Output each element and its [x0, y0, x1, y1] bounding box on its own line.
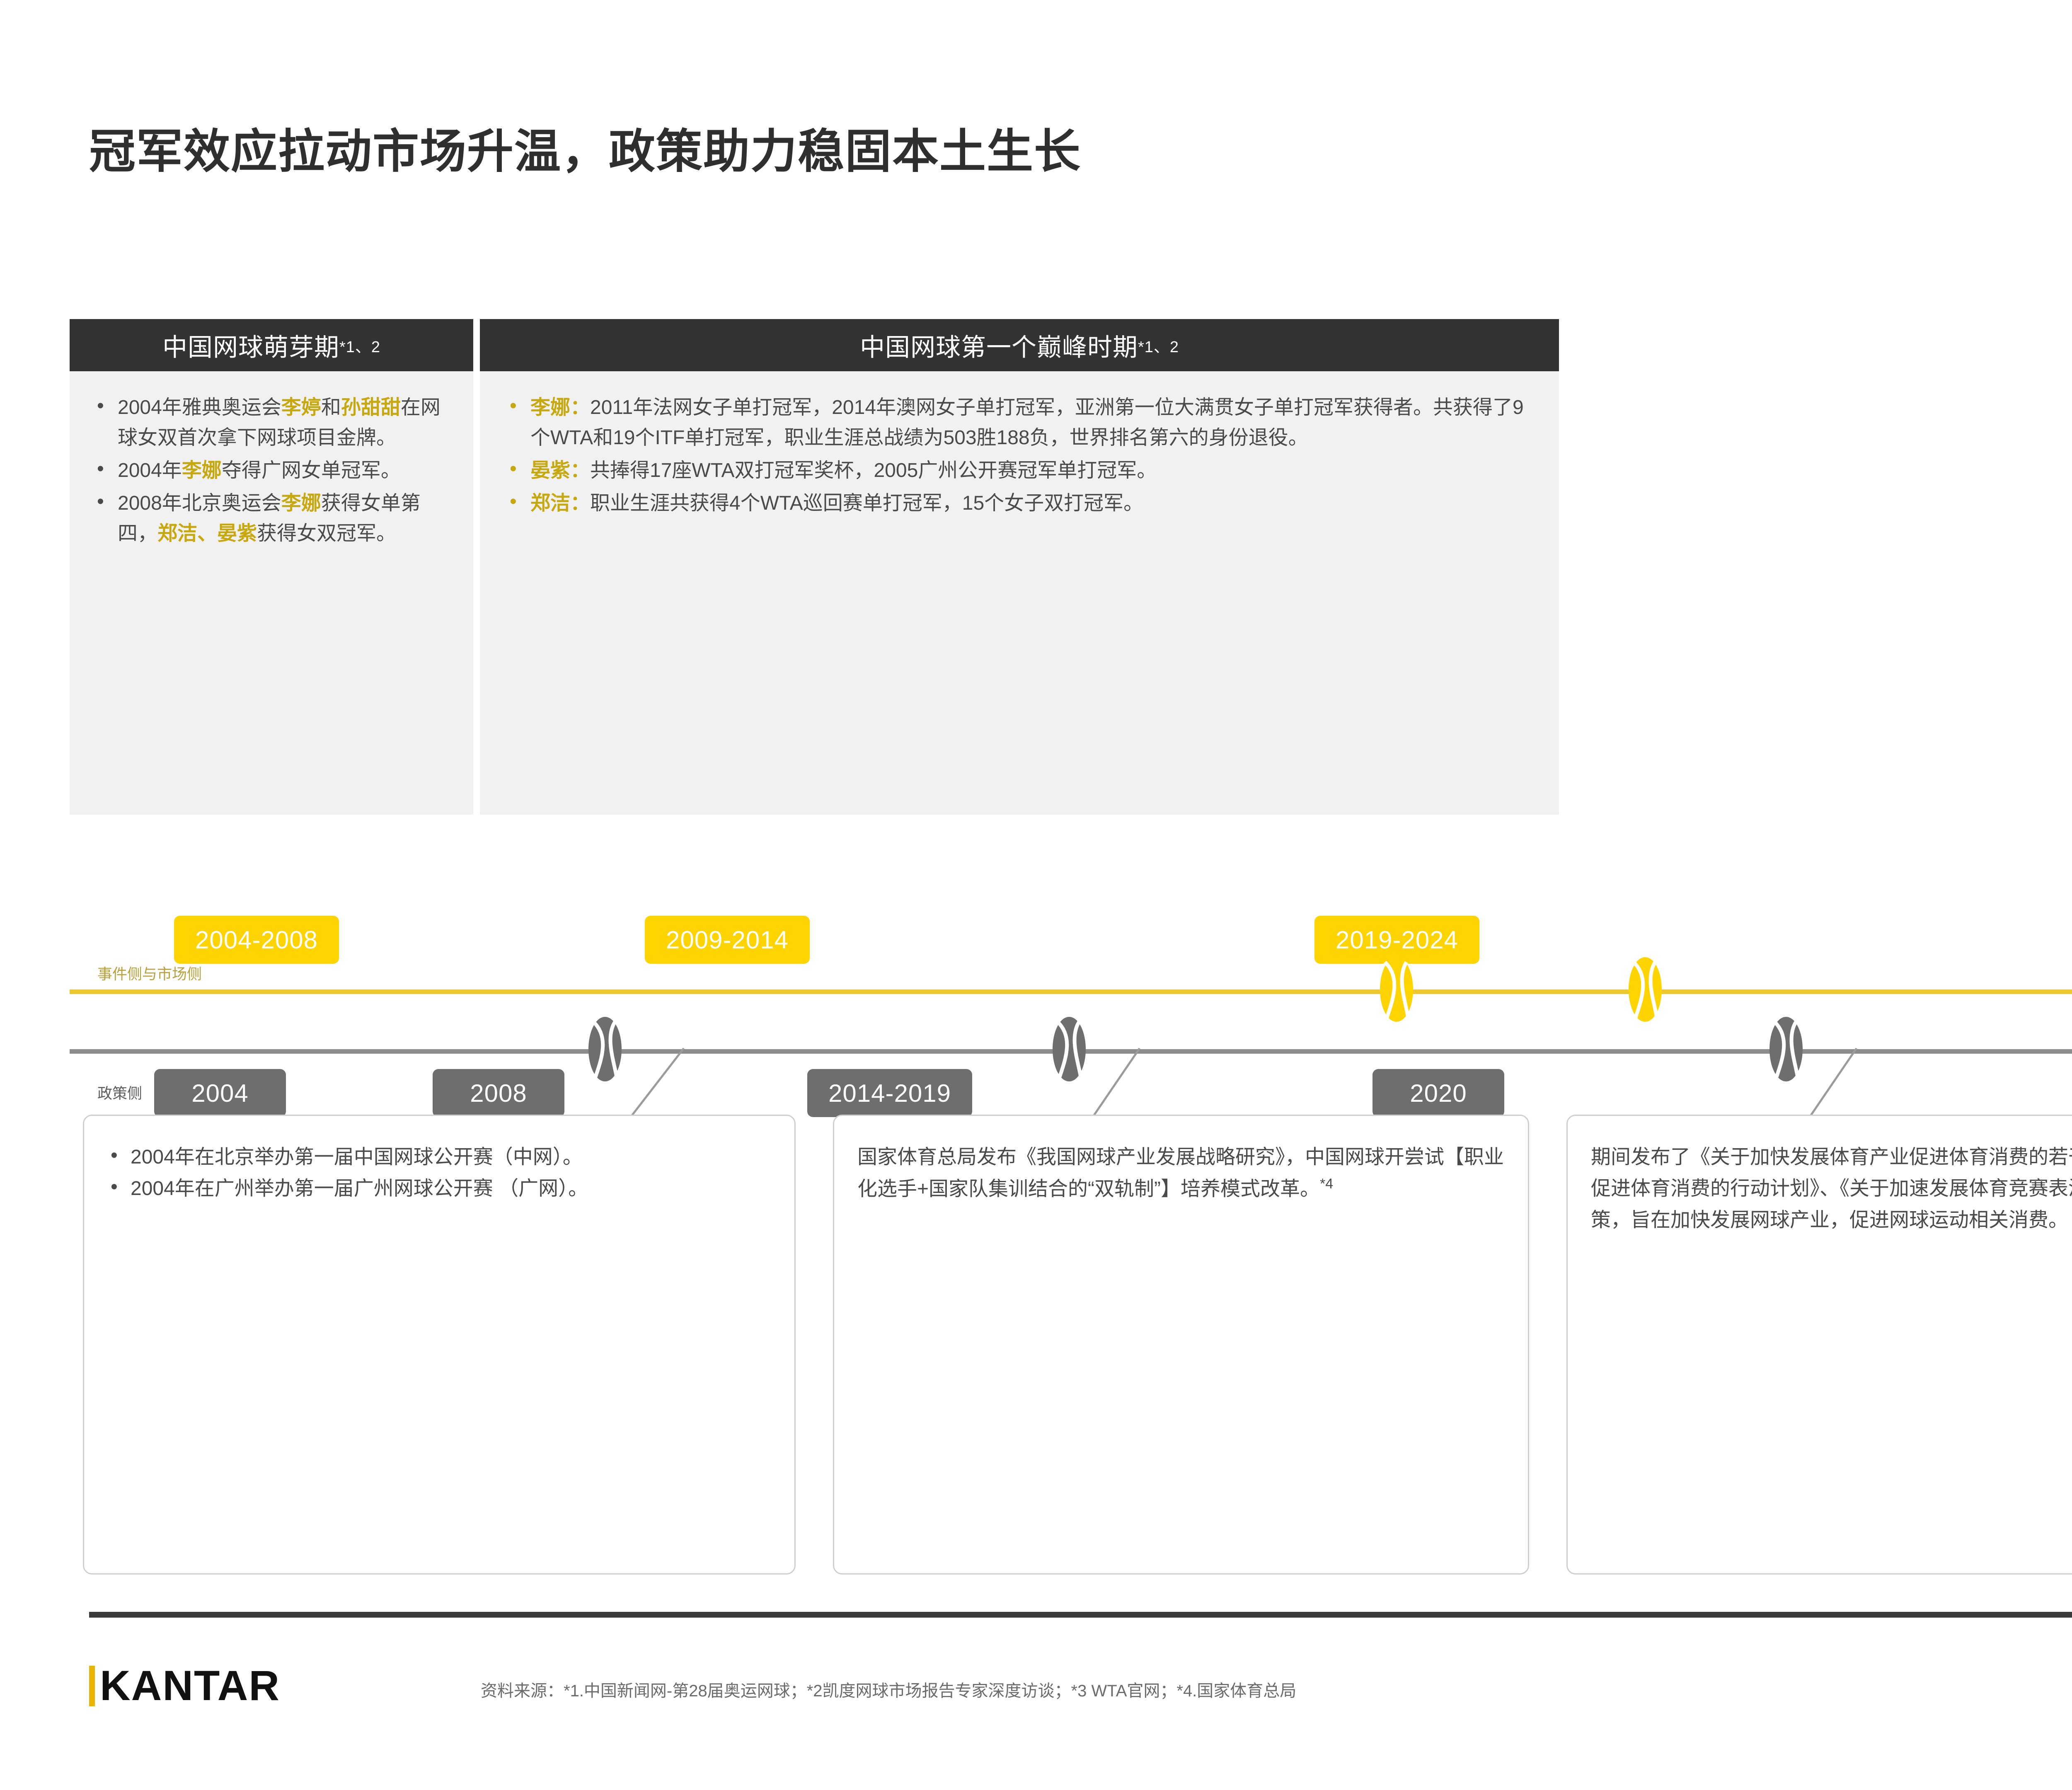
phase-cards: 中国网球萌芽期*1、2 2004年雅典奥运会李婷和孙甜甜在网球女双首次拿下网球项… — [0, 319, 2072, 858]
phase-card-2: 中国网球第一个巅峰时期*1、2 李娜：2011年法网女子单打冠军，2014年澳网… — [480, 319, 1559, 815]
list-item: 郑洁：职业生涯共获得4个WTA巡回赛单打冠军，15个女子双打冠军。 — [506, 489, 1535, 519]
list-item: 2004年在北京举办第一届中国网球公开赛（中网）。 — [107, 1142, 771, 1173]
phase-card-2-body: 李娜：2011年法网女子单打冠军，2014年澳网女子单打冠军，亚洲第一位大满贯女… — [480, 371, 1559, 815]
detail-card-1-list: 2004年在北京举办第一届中国网球公开赛（中网）。2004年在广州举办第一届广州… — [107, 1142, 771, 1205]
footnote-marker: *4 — [1320, 1176, 1333, 1192]
phase-card-1-title: 中国网球萌芽期*1、2 — [70, 319, 473, 371]
detail-cards: 2004年在北京举办第一届中国网球公开赛（中网）。2004年在广州举办第一届广州… — [0, 1115, 2072, 1575]
tennis-ball-icon — [1624, 956, 1666, 1023]
kantar-bar-icon — [89, 1666, 95, 1706]
footer-divider — [89, 1612, 2072, 1618]
phase-card-2-list: 李娜：2011年法网女子单打冠军，2014年澳网女子单打冠军，亚洲第一位大满贯女… — [506, 393, 1535, 519]
detail-card-2-text: 国家体育总局发布《我国网球产业发展战略研究》，中国网球开尝试【职业化选手+国家队… — [857, 1142, 1505, 1205]
phase-card-1: 中国网球萌芽期*1、2 2004年雅典奥运会李婷和孙甜甜在网球女双首次拿下网球项… — [70, 319, 473, 815]
timeline-event-pill: 2004-2008 — [174, 916, 339, 964]
phase-card-2-title-footnote: *1、2 — [1138, 334, 1179, 357]
detail-card-1: 2004年在北京举办第一届中国网球公开赛（中网）。2004年在广州举办第一届广州… — [83, 1115, 796, 1575]
timeline-event-axis — [70, 989, 2072, 994]
timeline-event-pill: 2009-2014 — [645, 916, 810, 964]
detail-card-3: 期间发布了《关于加快发展体育产业促进体育消费的若干意见》46号文、《进一步促进体… — [1566, 1115, 2072, 1575]
list-item: 2004年在广州举办第一届广州网球公开赛 （广网）。 — [107, 1173, 771, 1205]
phase-card-1-list: 2004年雅典奥运会李婷和孙甜甜在网球女双首次拿下网球项目金牌。2004年李娜夺… — [94, 393, 449, 549]
phase-card-2-title: 中国网球第一个巅峰时期*1、2 — [480, 319, 1559, 371]
phase-card-1-title-text: 中国网球萌芽期 — [162, 327, 339, 363]
detail-card-2: 国家体育总局发布《我国网球产业发展战略研究》，中国网球开尝试【职业化选手+国家队… — [833, 1115, 1529, 1575]
slide-root: 冠军效应拉动市场升温，政策助力稳固本土生长 中国网球市场发展历程 中国网球萌芽期… — [0, 0, 2072, 1790]
list-item: 2008年北京奥运会李娜获得女单第四，郑洁、晏紫获得女双冠军。 — [94, 489, 449, 549]
phase-card-2-title-text: 中国网球第一个巅峰时期 — [860, 327, 1138, 363]
kantar-wordmark: KANTAR — [100, 1662, 280, 1710]
detail-card-3-text: 期间发布了《关于加快发展体育产业促进体育消费的若干意见》46号文、《进一步促进体… — [1591, 1142, 2072, 1236]
phase-card-1-title-footnote: *1、2 — [339, 334, 380, 357]
list-item: 2004年雅典奥运会李婷和孙甜甜在网球女双首次拿下网球项目金牌。 — [94, 393, 449, 453]
list-item: 晏紫：共捧得17座WTA双打冠军奖杯，2005广州公开赛冠军单打冠军。 — [506, 456, 1535, 486]
list-item: 李娜：2011年法网女子单打冠军，2014年澳网女子单打冠军，亚洲第一位大满贯女… — [506, 393, 1535, 453]
phase-card-1-body: 2004年雅典奥运会李婷和孙甜甜在网球女双首次拿下网球项目金牌。2004年李娜夺… — [70, 371, 473, 815]
source-note: 资料来源：*1.中国新闻网-第28届奥运网球；*2凯度网球市场报告专家深度访谈；… — [481, 1677, 1296, 1701]
page-title: 冠军效应拉动市场升温，政策助力稳固本土生长 — [89, 114, 1081, 181]
list-item: 2004年李娜夺得广网女单冠军。 — [94, 456, 449, 486]
kantar-logo: KANTAR — [89, 1662, 280, 1710]
tennis-ball-icon — [1376, 956, 1417, 1023]
timeline-event-lane-label: 事件侧与市场侧 — [97, 962, 202, 984]
